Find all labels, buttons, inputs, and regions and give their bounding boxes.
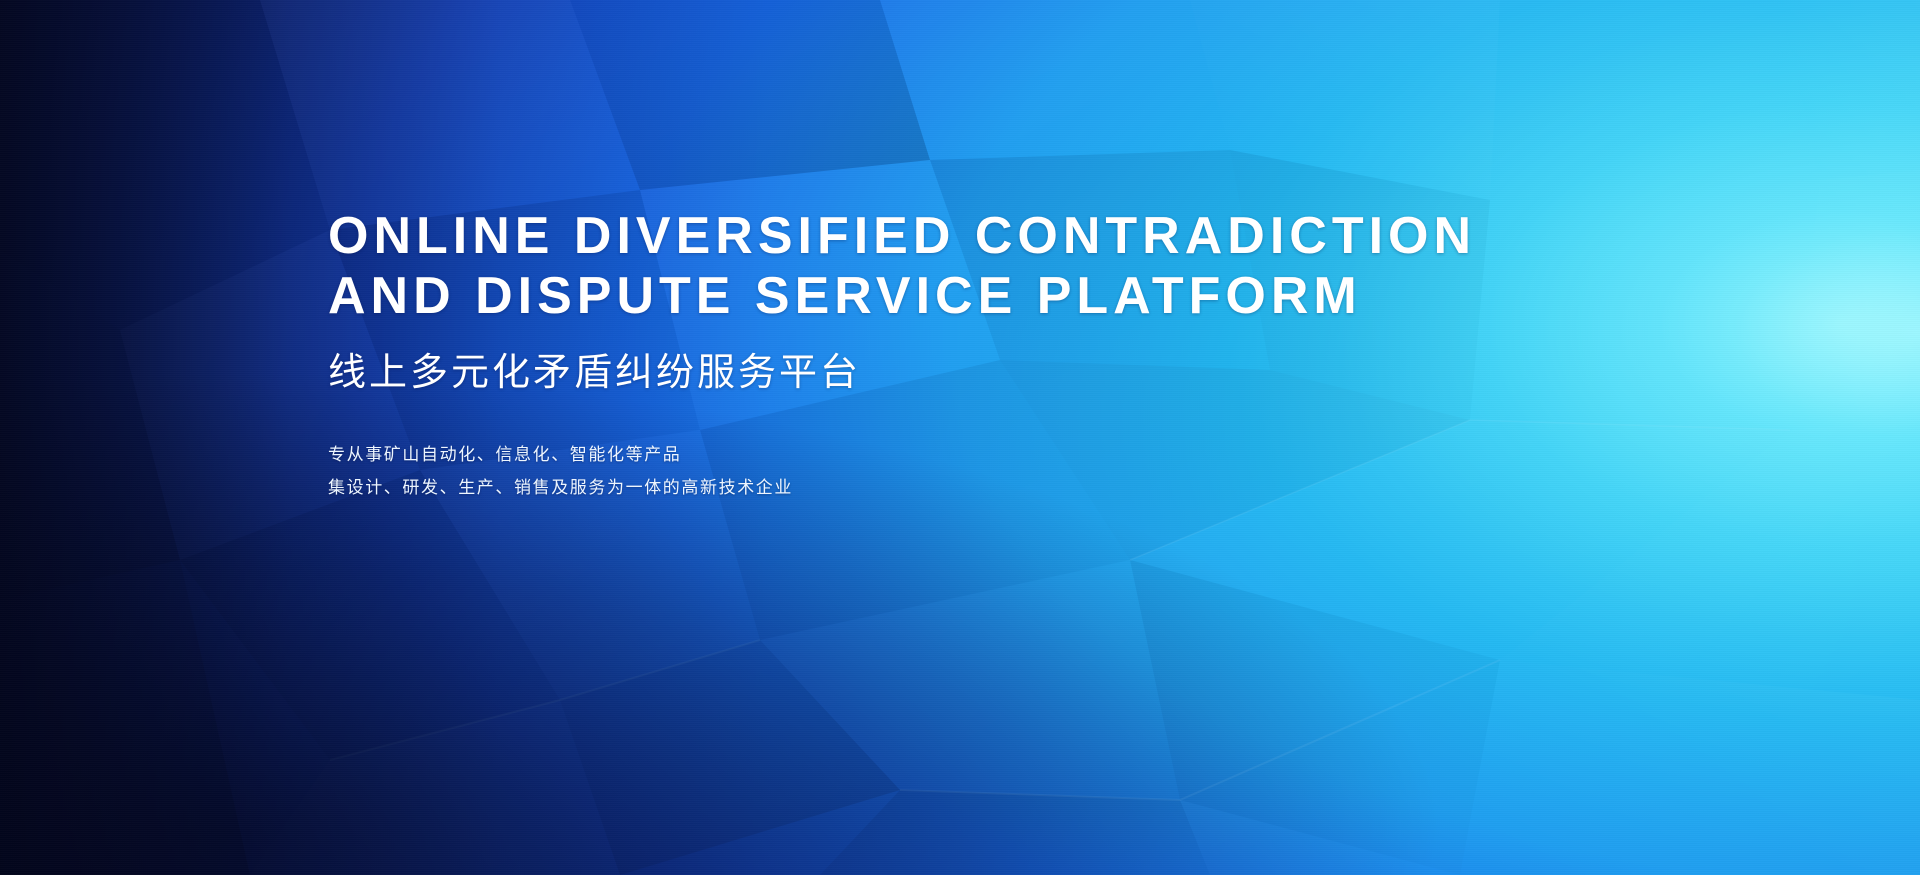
hero-banner: ONLINE DIVERSIFIED CONTRADICTION AND DIS… — [0, 0, 1920, 875]
headline-line-1: ONLINE DIVERSIFIED CONTRADICTION — [328, 206, 1658, 266]
tagline-line-1: 专从事矿山自动化、信息化、智能化等产品 — [328, 438, 1658, 471]
subtitle-chinese: 线上多元化矛盾纠纷服务平台 — [328, 348, 1658, 398]
headline-line-2: AND DISPUTE SERVICE PLATFORM — [328, 266, 1658, 326]
tagline-line-2: 集设计、研发、生产、销售及服务为一体的高新技术企业 — [328, 471, 1658, 504]
banner-content: ONLINE DIVERSIFIED CONTRADICTION AND DIS… — [328, 206, 1658, 504]
